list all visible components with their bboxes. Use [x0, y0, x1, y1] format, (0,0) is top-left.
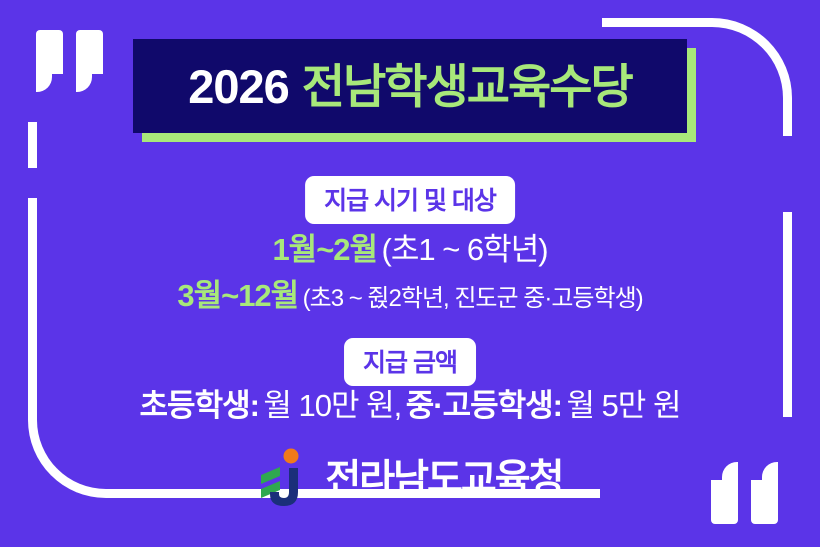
amount-row: 초등학생: 월 10만 원, 중·고등학생: 월 5만 원 [0, 380, 820, 425]
organization-name: 전라남도교육청 [325, 460, 562, 499]
schedule-period-2: 3월~12월 [177, 278, 298, 313]
schedule-period-1: 1월~2월 [272, 232, 377, 267]
organization-logo: 전라남도교육청 [0, 448, 820, 510]
title-program-name: 전남학생교육수당 [302, 63, 632, 110]
schedule-target-2: (초3 ~ 쥕2학년, 진도군 중·고등학생) [303, 285, 643, 312]
schedule-heading-pill: 지급 시기 및 대상 [305, 176, 515, 224]
schedule-row-1: 1월~2월 (초1 ~ 6학년) [0, 224, 820, 269]
amount-label-secondary: 중·고등학생: [406, 388, 562, 423]
jeonnam-education-office-symbol-icon [257, 448, 311, 510]
amount-value-elementary: 월 10만 원, [263, 388, 401, 423]
amount-value-secondary: 월 5만 원 [566, 388, 680, 423]
amount-label-elementary: 초등학생: [140, 388, 259, 423]
schedule-row-2: 3월~12월 (초3 ~ 쥕2학년, 진도군 중·고등학생) [0, 270, 820, 315]
title-year: 2026 [188, 63, 289, 110]
title-banner-box: 2026 전남학생교육수당 [133, 39, 687, 133]
frame-left-stub [28, 122, 37, 168]
schedule-target-1: (초1 ~ 6학년) [382, 232, 548, 267]
open-quote-icon [36, 30, 103, 92]
poster-canvas: 2026 전남학생교육수당 지급 시기 및 대상 1월~2월 (초1 ~ 6학년… [0, 0, 820, 547]
amount-heading-pill: 지급 금액 [344, 338, 476, 386]
title-banner: 2026 전남학생교육수당 [133, 39, 687, 133]
